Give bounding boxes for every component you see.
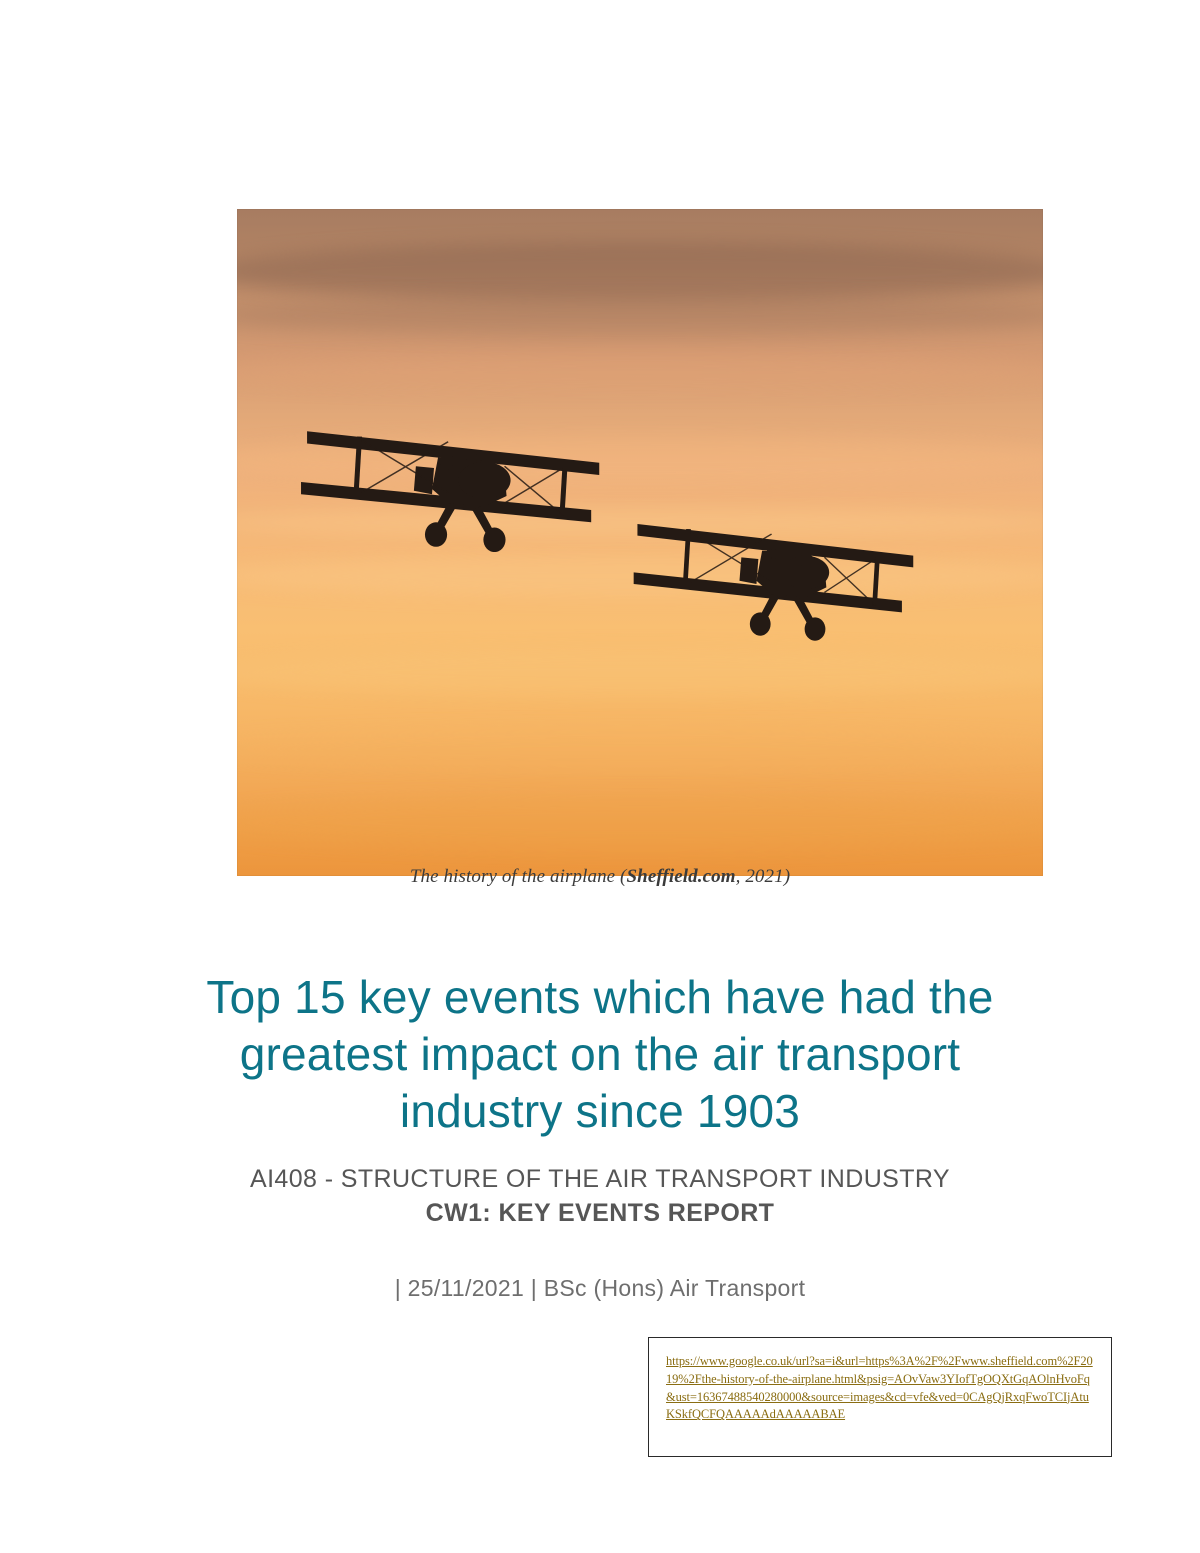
cloud-band bbox=[237, 356, 1043, 389]
coursework-title: CW1: KEY EVENTS REPORT bbox=[160, 1196, 1040, 1230]
hero-figure bbox=[237, 209, 1043, 876]
cover-page: The history of the airplane (Sheffield.c… bbox=[0, 0, 1200, 1553]
caption-source: Sheffield.com bbox=[626, 866, 735, 887]
title-line-3: industry since 1903 bbox=[400, 1085, 800, 1137]
title-line-1: Top 15 key events which have had the bbox=[206, 971, 993, 1023]
image-caption: The history of the airplane (Sheffield.c… bbox=[0, 866, 1200, 888]
biplane-silhouette-lead bbox=[297, 412, 619, 552]
cloud-band bbox=[237, 729, 1043, 769]
source-url-box: https://www.google.co.uk/url?sa=i&url=ht… bbox=[648, 1337, 1112, 1457]
cloud-band bbox=[237, 796, 1043, 849]
module-block: AI408 - STRUCTURE OF THE AIR TRANSPORT I… bbox=[160, 1162, 1040, 1230]
caption-year: , 2021) bbox=[736, 866, 791, 887]
source-url-link[interactable]: https://www.google.co.uk/url?sa=i&url=ht… bbox=[666, 1353, 1096, 1424]
cloud-band bbox=[237, 649, 1043, 696]
title-line-2: greatest impact on the air transport bbox=[240, 1028, 961, 1080]
date-and-programme: | 25/11/2021 | BSc (Hons) Air Transport bbox=[160, 1275, 1040, 1302]
biplanes-at-sunset-photo bbox=[237, 209, 1043, 876]
module-code-and-name: AI408 - STRUCTURE OF THE AIR TRANSPORT I… bbox=[160, 1162, 1040, 1196]
page-title: Top 15 key events which have had the gre… bbox=[160, 969, 1040, 1140]
biplane-silhouette-follow bbox=[628, 509, 930, 642]
cloud-band bbox=[237, 296, 1043, 336]
caption-text: The history of the airplane ( bbox=[410, 866, 627, 887]
cloud-band bbox=[237, 242, 1043, 302]
